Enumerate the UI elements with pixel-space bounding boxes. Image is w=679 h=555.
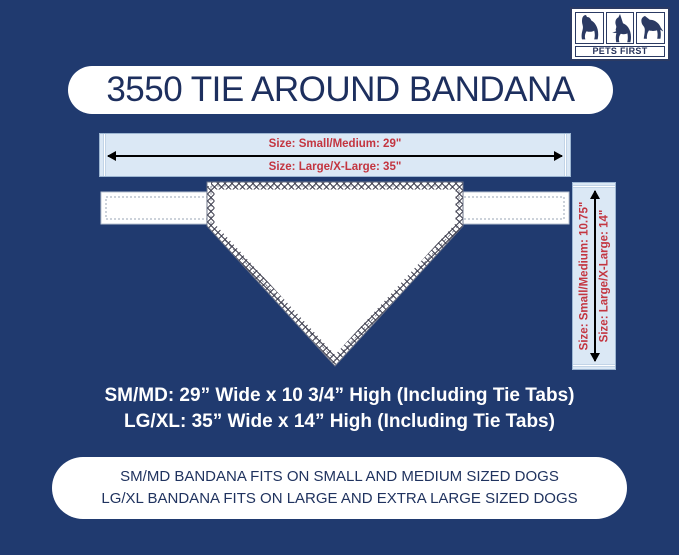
dog-silhouette-sitting-icon <box>575 12 604 44</box>
dog-silhouette-standing-icon <box>636 12 665 44</box>
width-double-arrow-icon <box>108 155 562 157</box>
bandana-illustration <box>99 180 571 370</box>
spec-line-large-xlarge: LG/XL: 35” Wide x 14” High (Including Ti… <box>0 409 679 435</box>
page-title: 3550 TIE AROUND BANDANA <box>68 66 613 114</box>
fit-line-large-xlarge: LG/XL BANDANA FITS ON LARGE AND EXTRA LA… <box>101 488 577 510</box>
bandana-body <box>207 182 463 366</box>
specifications: SM/MD: 29” Wide x 10 3/4” High (Includin… <box>0 383 679 435</box>
fit-line-small-medium: SM/MD BANDANA FITS ON SMALL AND MEDIUM S… <box>120 466 559 488</box>
logo-brand-text: PETS FIRST <box>575 46 665 57</box>
fit-note: SM/MD BANDANA FITS ON SMALL AND MEDIUM S… <box>52 457 627 519</box>
pets-first-logo: PETS FIRST <box>570 7 670 61</box>
spec-line-small-medium: SM/MD: 29” Wide x 10 3/4” High (Includin… <box>0 383 679 409</box>
dog-silhouette-begging-icon <box>606 12 635 44</box>
page-title-text: 3550 TIE AROUND BANDANA <box>106 70 574 110</box>
height-label-small-medium: Size: Small/Medium: 10.75" <box>574 183 594 369</box>
height-label-large-xlarge: Size: Large/X-Large: 14" <box>594 183 614 369</box>
height-measurement-band: Size: Small/Medium: 10.75" Size: Large/X… <box>572 182 616 370</box>
tie-tab-left <box>101 192 219 224</box>
width-label-small-medium: Size: Small/Medium: 29" <box>100 138 570 150</box>
width-label-large-xlarge: Size: Large/X-Large: 35" <box>100 161 570 173</box>
tie-tab-right <box>451 192 569 224</box>
logo-dog-row <box>575 12 665 44</box>
width-measurement-band: Size: Small/Medium: 29" Size: Large/X-La… <box>99 133 571 177</box>
